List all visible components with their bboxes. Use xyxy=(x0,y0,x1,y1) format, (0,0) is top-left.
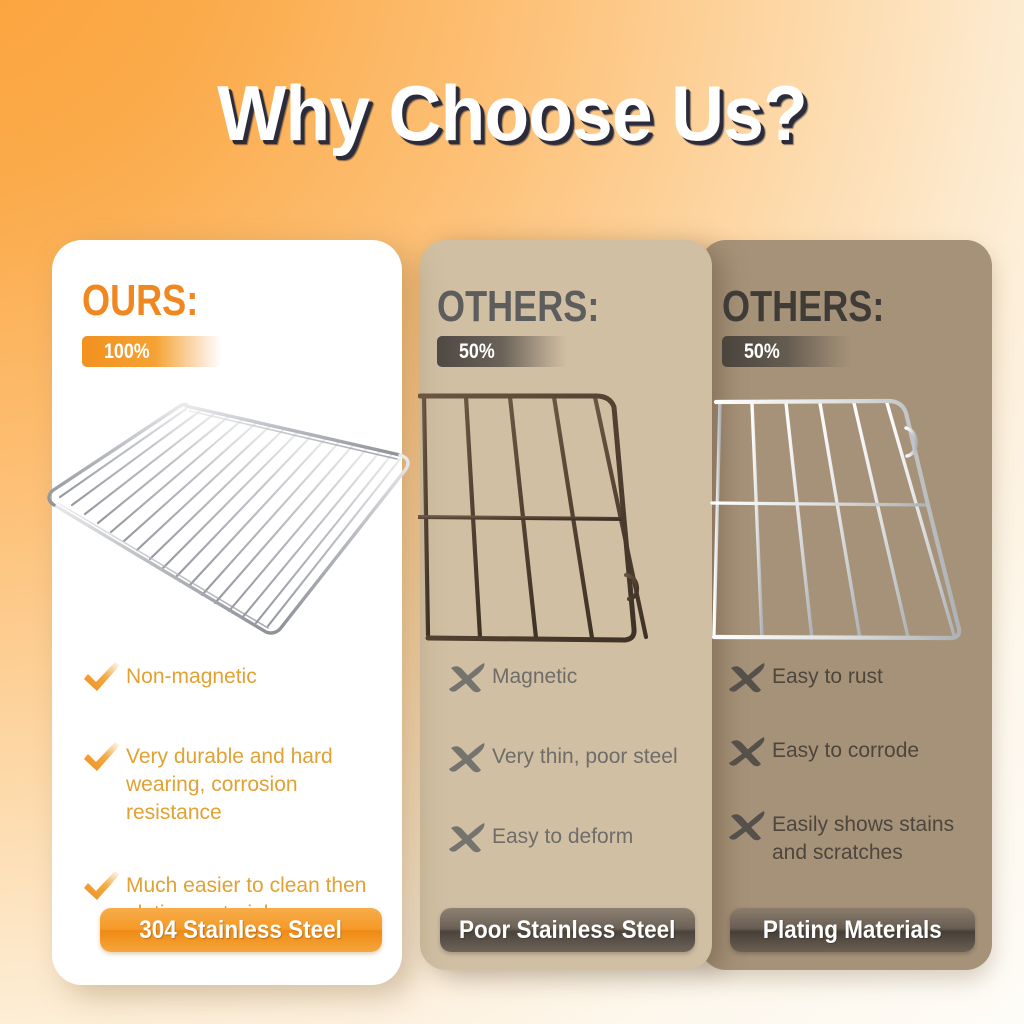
feature-item: Non-magnetic xyxy=(82,660,382,698)
cross-icon xyxy=(448,660,492,698)
page-title: Why Choose Us? xyxy=(31,68,994,159)
feature-text: Very durable and hard wearing, corrosion… xyxy=(126,740,382,827)
cross-icon xyxy=(728,734,772,772)
cross-icon xyxy=(728,660,772,698)
cross-icon xyxy=(448,740,492,778)
stainless-steel-oven-rack-image xyxy=(40,385,420,640)
material-label-poor-steel: Poor Stainless Steel xyxy=(440,908,695,952)
feature-item: Very thin, poor steel xyxy=(448,740,698,778)
feature-item: Easy to corrode xyxy=(728,734,980,772)
check-icon xyxy=(82,740,126,778)
percent-badge-plating: 50% xyxy=(722,336,852,367)
heading-others-plating: OTHERS: xyxy=(722,282,884,332)
rusty-wire-oven-rack-image xyxy=(418,385,698,647)
feature-item: Easily shows stains and scratches xyxy=(728,808,980,867)
feature-list-plating: Easy to rust Easy to corrode xyxy=(728,660,980,903)
cross-icon xyxy=(448,820,492,858)
feature-text: Easy to rust xyxy=(772,660,883,691)
material-label-plating: Plating Materials xyxy=(730,908,975,952)
percent-badge-ours: 100% xyxy=(82,336,222,367)
percent-badge-poor-steel: 50% xyxy=(437,336,567,367)
cross-icon xyxy=(728,808,772,846)
material-label-ours-text: 304 Stainless Steel xyxy=(140,916,343,945)
percent-badge-ours-value: 100% xyxy=(104,340,150,364)
chrome-plated-wire-oven-rack-image xyxy=(706,385,996,647)
feature-text: Easy to corrode xyxy=(772,734,919,765)
feature-text: Easily shows stains and scratches xyxy=(772,808,980,867)
percent-badge-plating-value: 50% xyxy=(744,340,780,364)
heading-ours: OURS: xyxy=(82,276,198,326)
feature-text: Magnetic xyxy=(492,660,577,691)
feature-list-poor-steel: Magnetic Very thin, poor steel xyxy=(448,660,698,900)
material-label-plating-text: Plating Materials xyxy=(763,916,942,945)
feature-item: Magnetic xyxy=(448,660,698,698)
percent-badge-poor-steel-value: 50% xyxy=(459,340,495,364)
feature-text: Very thin, poor steel xyxy=(492,740,678,771)
poster-canvas: Why Choose Us? OURS: OTHERS: OTHERS: 100… xyxy=(0,0,1024,1024)
feature-item: Easy to rust xyxy=(728,660,980,698)
feature-text: Easy to deform xyxy=(492,820,633,851)
feature-text: Non-magnetic xyxy=(126,660,257,691)
check-icon xyxy=(82,660,126,698)
material-label-ours: 304 Stainless Steel xyxy=(100,908,382,952)
check-icon xyxy=(82,869,126,907)
feature-item: Easy to deform xyxy=(448,820,698,858)
material-label-poor-steel-text: Poor Stainless Steel xyxy=(459,916,675,945)
feature-item: Very durable and hard wearing, corrosion… xyxy=(82,740,382,827)
heading-others-poor-steel: OTHERS: xyxy=(437,282,599,332)
